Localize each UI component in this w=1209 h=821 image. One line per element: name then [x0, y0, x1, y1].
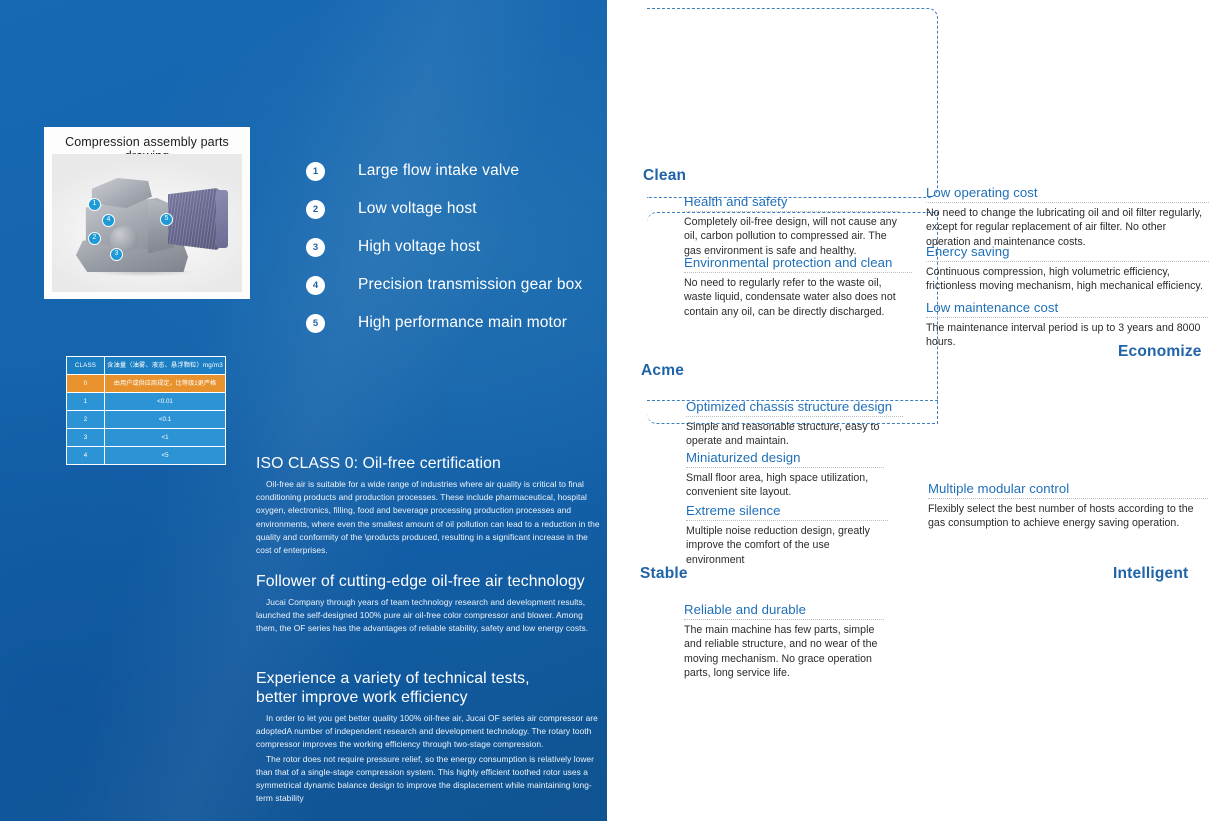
- table-row: 3 <1: [67, 429, 226, 447]
- section-heading-line-1: Experience a variety of technical tests,: [256, 670, 530, 687]
- table-header-row: CLASS 含油量（油雾、液态、悬浮颗粒）mg/m3: [67, 357, 226, 375]
- quadrant-label-stable: Stable: [640, 565, 688, 583]
- quadrant-label-intelligent: Intelligent: [1113, 565, 1188, 583]
- cell-class: 2: [67, 411, 105, 429]
- card-extreme-silence: Extreme silence Multiple noise reduction…: [686, 502, 888, 567]
- card-low-operating-cost: Low operating cost No need to change the…: [926, 184, 1209, 249]
- cell-value: <0.1: [105, 411, 226, 429]
- quadrant-label-acme: Acme: [641, 362, 684, 380]
- feature-number-badge: 5: [306, 314, 325, 333]
- section-iso-class-0: ISO CLASS 0: Oil-free certification Oil-…: [256, 454, 604, 557]
- table-row: 2 <0.1: [67, 411, 226, 429]
- card-title: Low maintenance cost: [926, 299, 1208, 316]
- cell-class: 1: [67, 393, 105, 411]
- left-blue-panel: Compression assembly parts drawing 1 2 3…: [0, 0, 607, 821]
- card-title: Health and safety: [684, 193, 899, 210]
- table-row: 4 <5: [67, 447, 226, 465]
- feature-list: 1 Large flow intake valve 2 Low voltage …: [306, 152, 596, 342]
- callout-dot-3: 3: [110, 248, 123, 261]
- card-divider: [684, 272, 912, 273]
- card-multiple-modular-control: Multiple modular control Flexibly select…: [928, 480, 1208, 531]
- card-body: No need to regularly refer to the waste …: [684, 276, 912, 319]
- card-title: Enercy saving: [926, 243, 1209, 260]
- card-title: Environmental protection and clean: [684, 254, 912, 271]
- feature-label: High voltage host: [358, 238, 480, 256]
- section-paragraph: The rotor does not require pressure reli…: [256, 753, 604, 806]
- card-miniaturized-design: Miniaturized design Small floor area, hi…: [686, 449, 884, 500]
- card-divider: [926, 202, 1209, 203]
- cell-value: 由用户或供应商规定，比等级1更严格: [105, 375, 226, 393]
- card-environmental-protection: Environmental protection and clean No ne…: [684, 254, 912, 319]
- card-title: Optimized chassis structure design: [686, 398, 903, 415]
- section-cutting-edge-technology: Follower of cutting-edge oil-free air te…: [256, 572, 604, 636]
- card-divider: [686, 520, 888, 521]
- card-divider: [686, 416, 903, 417]
- feature-label: Low voltage host: [358, 200, 477, 218]
- callout-dot-5: 5: [160, 213, 173, 226]
- card-title: Miniaturized design: [686, 449, 884, 466]
- machine-motor-cap: [216, 190, 228, 248]
- card-reliable-and-durable: Reliable and durable The main machine ha…: [684, 601, 884, 681]
- card-body: The maintenance interval period is up to…: [926, 321, 1208, 350]
- feature-item-5: 5 High performance main motor: [306, 304, 596, 342]
- cell-class: 4: [67, 447, 105, 465]
- card-divider: [684, 619, 884, 620]
- feature-item-3: 3 High voltage host: [306, 228, 596, 266]
- card-divider: [926, 317, 1208, 318]
- card-divider: [684, 211, 899, 212]
- card-body: Continuous compression, high volumetric …: [926, 265, 1209, 294]
- section-heading: ISO CLASS 0: Oil-free certification: [256, 454, 604, 473]
- compression-assembly-photo: 1 2 3 4 5: [52, 154, 242, 292]
- cell-value: <1: [105, 429, 226, 447]
- feature-number-badge: 2: [306, 200, 325, 219]
- card-health-and-safety: Health and safety Completely oil-free de…: [684, 193, 899, 258]
- column-header-oil-content: 含油量（油雾、液态、悬浮颗粒）mg/m3: [105, 357, 226, 375]
- section-paragraph: Jucai Company through years of team tech…: [256, 596, 604, 636]
- section-paragraph: In order to let you get better quality 1…: [256, 712, 604, 752]
- quadrant-label-clean: Clean: [643, 167, 686, 185]
- cell-value: <0.01: [105, 393, 226, 411]
- callout-dot-4: 4: [102, 214, 115, 227]
- feature-number-badge: 3: [306, 238, 325, 257]
- feature-number-badge: 1: [306, 162, 325, 181]
- section-paragraph: Oil-free air is suitable for a wide rang…: [256, 478, 604, 557]
- table-row: 0 由用户或供应商规定，比等级1更严格: [67, 375, 226, 393]
- feature-label: Large flow intake valve: [358, 162, 519, 180]
- card-body: Flexibly select the best number of hosts…: [928, 502, 1208, 531]
- product-photo-card: Compression assembly parts drawing 1 2 3…: [44, 127, 250, 299]
- card-title: Multiple modular control: [928, 480, 1208, 497]
- feature-number-badge: 4: [306, 276, 325, 295]
- card-body: The main machine has few parts, simple a…: [684, 623, 884, 681]
- iso-class-table: CLASS 含油量（油雾、液态、悬浮颗粒）mg/m3 0 由用户或供应商规定，比…: [66, 356, 226, 465]
- callout-dot-1: 1: [88, 198, 101, 211]
- card-body: Completely oil-free design, will not cau…: [684, 215, 899, 258]
- cell-class: 0: [67, 375, 105, 393]
- cell-class: 3: [67, 429, 105, 447]
- feature-label: Precision transmission gear box: [358, 276, 582, 294]
- table-row: 1 <0.01: [67, 393, 226, 411]
- card-title: Low operating cost: [926, 184, 1209, 201]
- card-body: Simple and reasonable structure, easy to…: [686, 420, 903, 449]
- section-technical-tests: Experience a variety of technical tests,…: [256, 669, 604, 805]
- card-divider: [926, 261, 1209, 262]
- cell-value: <5: [105, 447, 226, 465]
- card-title: Extreme silence: [686, 502, 888, 519]
- card-title: Reliable and durable: [684, 601, 884, 618]
- card-body: Multiple noise reduction design, greatly…: [686, 524, 888, 567]
- card-body: Small floor area, high space utilization…: [686, 471, 884, 500]
- feature-item-1: 1 Large flow intake valve: [306, 152, 596, 190]
- card-divider: [686, 467, 884, 468]
- section-heading: Follower of cutting-edge oil-free air te…: [256, 572, 604, 591]
- section-heading-line-2: better improve work efficiency: [256, 689, 468, 706]
- feature-label: High performance main motor: [358, 314, 567, 332]
- quadrant-frame-clean-economize: [647, 8, 938, 198]
- callout-dot-2: 2: [88, 232, 101, 245]
- section-heading: Experience a variety of technical tests,…: [256, 669, 604, 707]
- card-low-maintenance-cost: Low maintenance cost The maintenance int…: [926, 299, 1208, 350]
- feature-item-2: 2 Low voltage host: [306, 190, 596, 228]
- column-header-class: CLASS: [67, 357, 105, 375]
- feature-item-4: 4 Precision transmission gear box: [306, 266, 596, 304]
- card-divider: [928, 498, 1208, 499]
- card-optimized-chassis: Optimized chassis structure design Simpl…: [686, 398, 903, 449]
- card-energy-saving: Enercy saving Continuous compression, hi…: [926, 243, 1209, 294]
